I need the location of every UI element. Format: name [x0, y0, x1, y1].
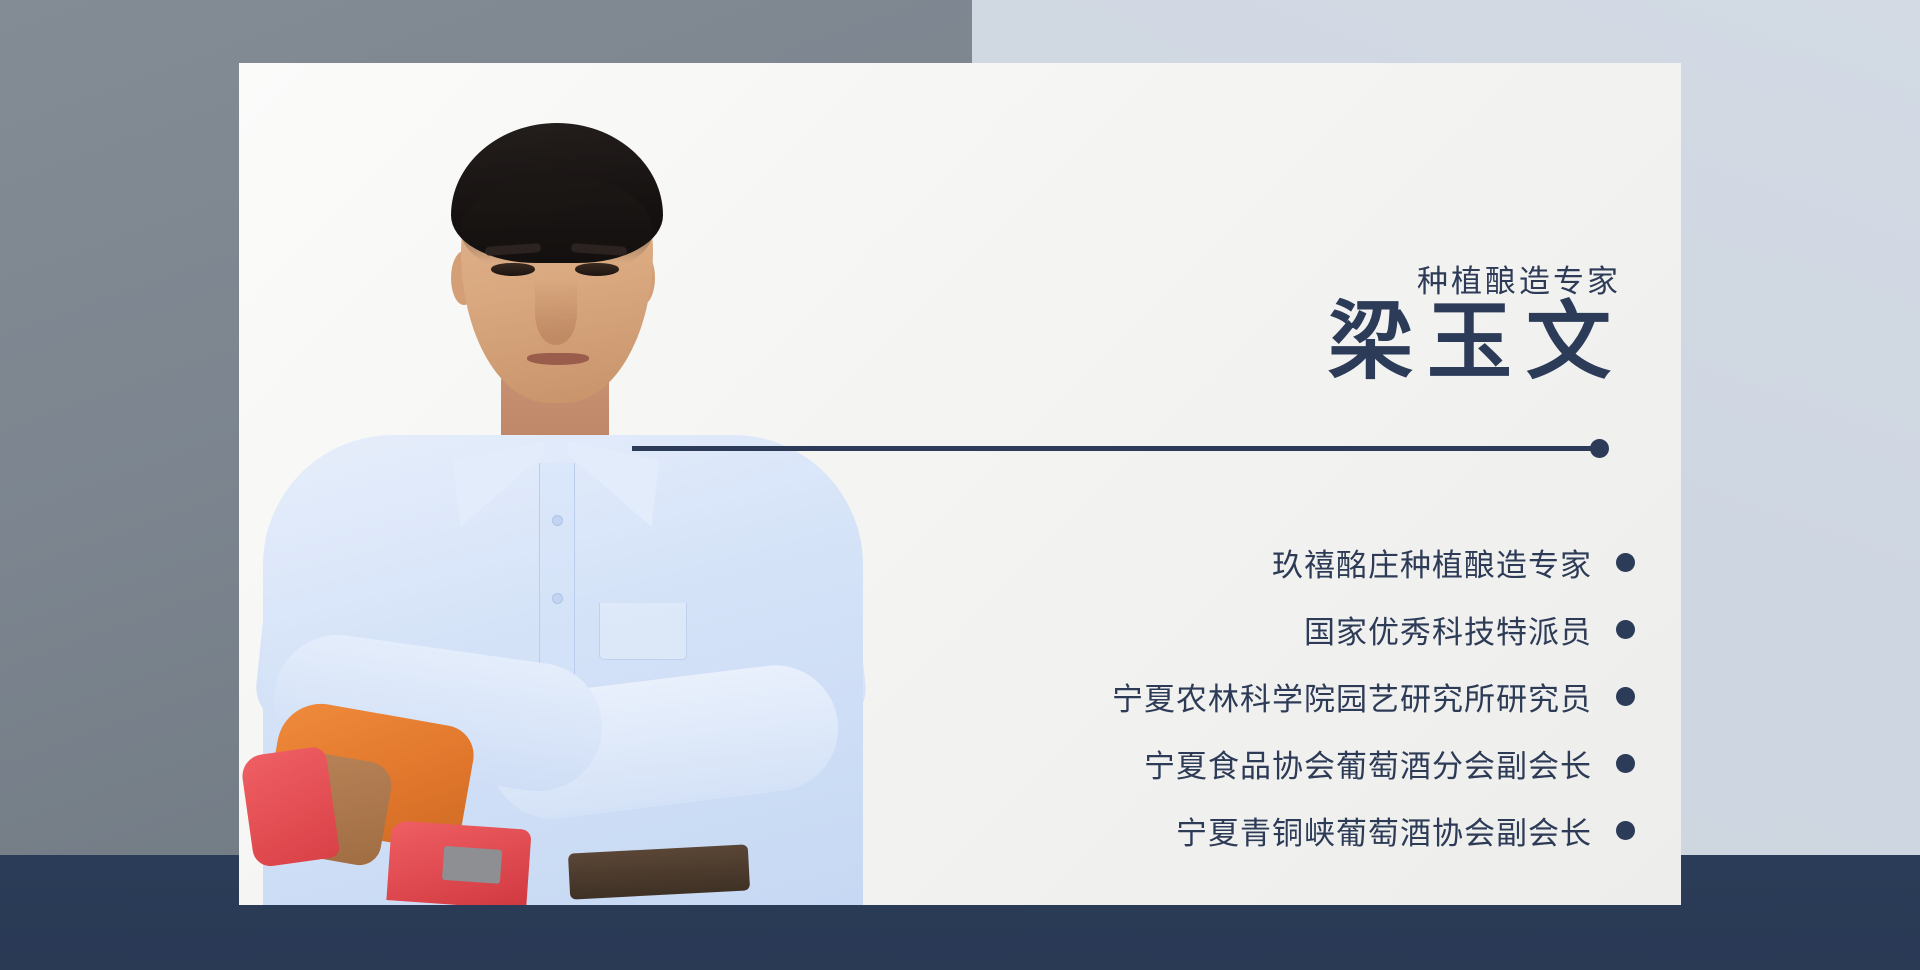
list-item: 宁夏青铜峡葡萄酒协会副会长 [735, 797, 1635, 864]
nose [535, 279, 577, 345]
profile-card: 种植酿造专家 梁玉文 玖禧酩庄种植酿造专家 国家优秀科技特派员 宁夏农林科学院园… [239, 63, 1681, 905]
bullet-dot-icon [1616, 620, 1635, 639]
divider-end-dot [1590, 439, 1609, 458]
bullet-dot-icon [1616, 687, 1635, 706]
list-item: 玖禧酩庄种植酿造专家 [735, 529, 1635, 596]
person-name: 梁玉文 [1328, 301, 1625, 386]
list-item: 宁夏食品协会葡萄酒分会副会长 [735, 730, 1635, 797]
credential-label: 宁夏农林科学院园艺研究所研究员 [1112, 674, 1592, 719]
credential-label: 玖禧酩庄种植酿造专家 [1272, 540, 1592, 585]
bullet-dot-icon [1616, 754, 1635, 773]
credential-label: 宁夏食品协会葡萄酒分会副会长 [1144, 741, 1592, 786]
shirt-pocket [599, 603, 687, 660]
credential-label: 国家优秀科技特派员 [1304, 607, 1592, 652]
shirt-button [552, 593, 563, 604]
credentials-list: 玖禧酩庄种植酿造专家 国家优秀科技特派员 宁夏农林科学院园艺研究所研究员 宁夏食… [735, 529, 1635, 864]
eye-right [575, 263, 619, 276]
credential-label: 宁夏青铜峡葡萄酒协会副会长 [1176, 808, 1592, 853]
list-item: 国家优秀科技特派员 [735, 596, 1635, 663]
list-item: 宁夏农林科学院园艺研究所研究员 [735, 663, 1635, 730]
role-subtitle: 种植酿造专家 [1417, 256, 1621, 301]
hair [451, 123, 663, 263]
bullet-dot-icon [1616, 553, 1635, 572]
divider-line [632, 446, 1601, 451]
bullet-dot-icon [1616, 821, 1635, 840]
eye-left [491, 263, 535, 276]
mouth [527, 353, 589, 365]
poster-stage: 种植酿造专家 梁玉文 玖禧酩庄种植酿造专家 国家优秀科技特派员 宁夏农林科学院园… [0, 0, 1920, 970]
shirt-button [552, 515, 563, 526]
